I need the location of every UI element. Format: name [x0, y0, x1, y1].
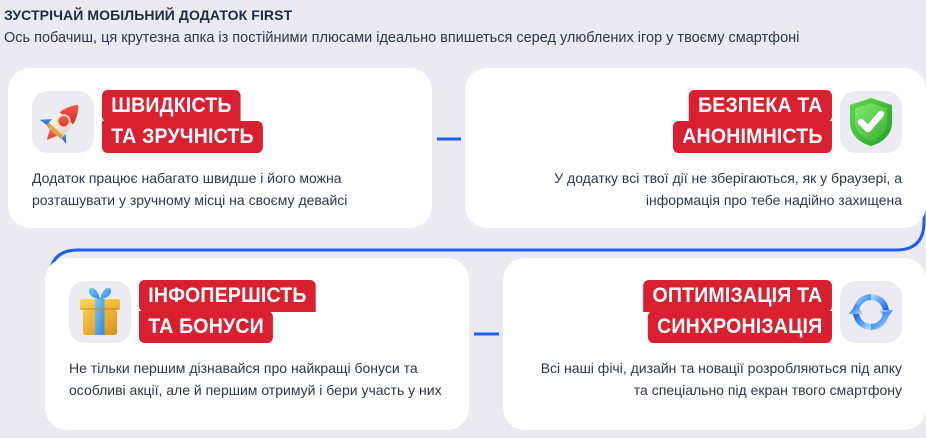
- feature-card-speed[interactable]: ШВИДКІСТЬ ТА ЗРУЧНІСТЬ Додаток працює на…: [8, 68, 432, 228]
- page-header: ЗУСТРІЧАЙ МОБІЛЬНИЙ ДОДАТОК FIRST Ось по…: [0, 0, 926, 48]
- card-title-badge: ОПТИМІЗАЦІЯ ТА СИНХРОНІЗАЦІЯ: [629, 280, 832, 343]
- feature-card-security[interactable]: БЕЗПЕКА ТА АНОНІМНІСТЬ: [465, 68, 926, 228]
- card-header: ІНФОПЕРШІСТЬ ТА БОНУСИ: [69, 280, 445, 343]
- card-header: ОПТИМІЗАЦІЯ ТА СИНХРОНІЗАЦІЯ: [527, 280, 902, 343]
- shield-check-icon: [840, 91, 902, 153]
- page-subtitle: Ось побачиш, ця крутезна апка із постійн…: [4, 29, 926, 48]
- card-title-badge: ШВИДКІСТЬ ТА ЗРУЧНІСТЬ: [102, 90, 275, 153]
- card-title-badge: БЕЗПЕКА ТА АНОНІМНІСТЬ: [661, 90, 832, 153]
- card-description: Додаток працює набагато швидше і його мо…: [32, 167, 408, 211]
- card-title-badge: ІНФОПЕРШІСТЬ ТА БОНУСИ: [139, 280, 329, 343]
- card-title-line-2: СИНХРОНІЗАЦІЯ: [648, 311, 832, 343]
- card-title-line-1: ШВИДКІСТЬ: [102, 90, 241, 122]
- card-title-line-2: АНОНІМНІСТЬ: [673, 121, 832, 153]
- card-title-line-1: ОПТИМІЗАЦІЯ ТА: [644, 280, 832, 312]
- card-header: БЕЗПЕКА ТА АНОНІМНІСТЬ: [489, 90, 902, 153]
- page-title: ЗУСТРІЧАЙ МОБІЛЬНИЙ ДОДАТОК FIRST: [4, 6, 926, 24]
- card-description: Не тільки першим дізнавайся про найкращі…: [69, 357, 445, 401]
- feature-card-grid: ШВИДКІСТЬ ТА ЗРУЧНІСТЬ Додаток працює на…: [0, 62, 926, 438]
- card-title-line-1: БЕЗПЕКА ТА: [689, 90, 832, 122]
- gift-icon: [69, 281, 131, 343]
- card-title-line-2: ТА ЗРУЧНІСТЬ: [102, 121, 263, 153]
- card-title-line-1: ІНФОПЕРШІСТЬ: [139, 280, 316, 312]
- feature-card-optimization[interactable]: ОПТИМІЗАЦІЯ ТА СИНХРОНІЗАЦІЯ: [503, 258, 926, 430]
- card-description: Всі наші фічі, дизайн та новації розробл…: [527, 357, 902, 401]
- card-header: ШВИДКІСТЬ ТА ЗРУЧНІСТЬ: [32, 90, 408, 153]
- feature-card-bonuses[interactable]: ІНФОПЕРШІСТЬ ТА БОНУСИ Не тільки першим …: [45, 258, 469, 430]
- card-title-line-2: ТА БОНУСИ: [139, 311, 273, 343]
- card-description: У додатку всі твої дії не зберігаються, …: [507, 167, 902, 211]
- sync-icon: [840, 281, 902, 343]
- rocket-icon: [32, 91, 94, 153]
